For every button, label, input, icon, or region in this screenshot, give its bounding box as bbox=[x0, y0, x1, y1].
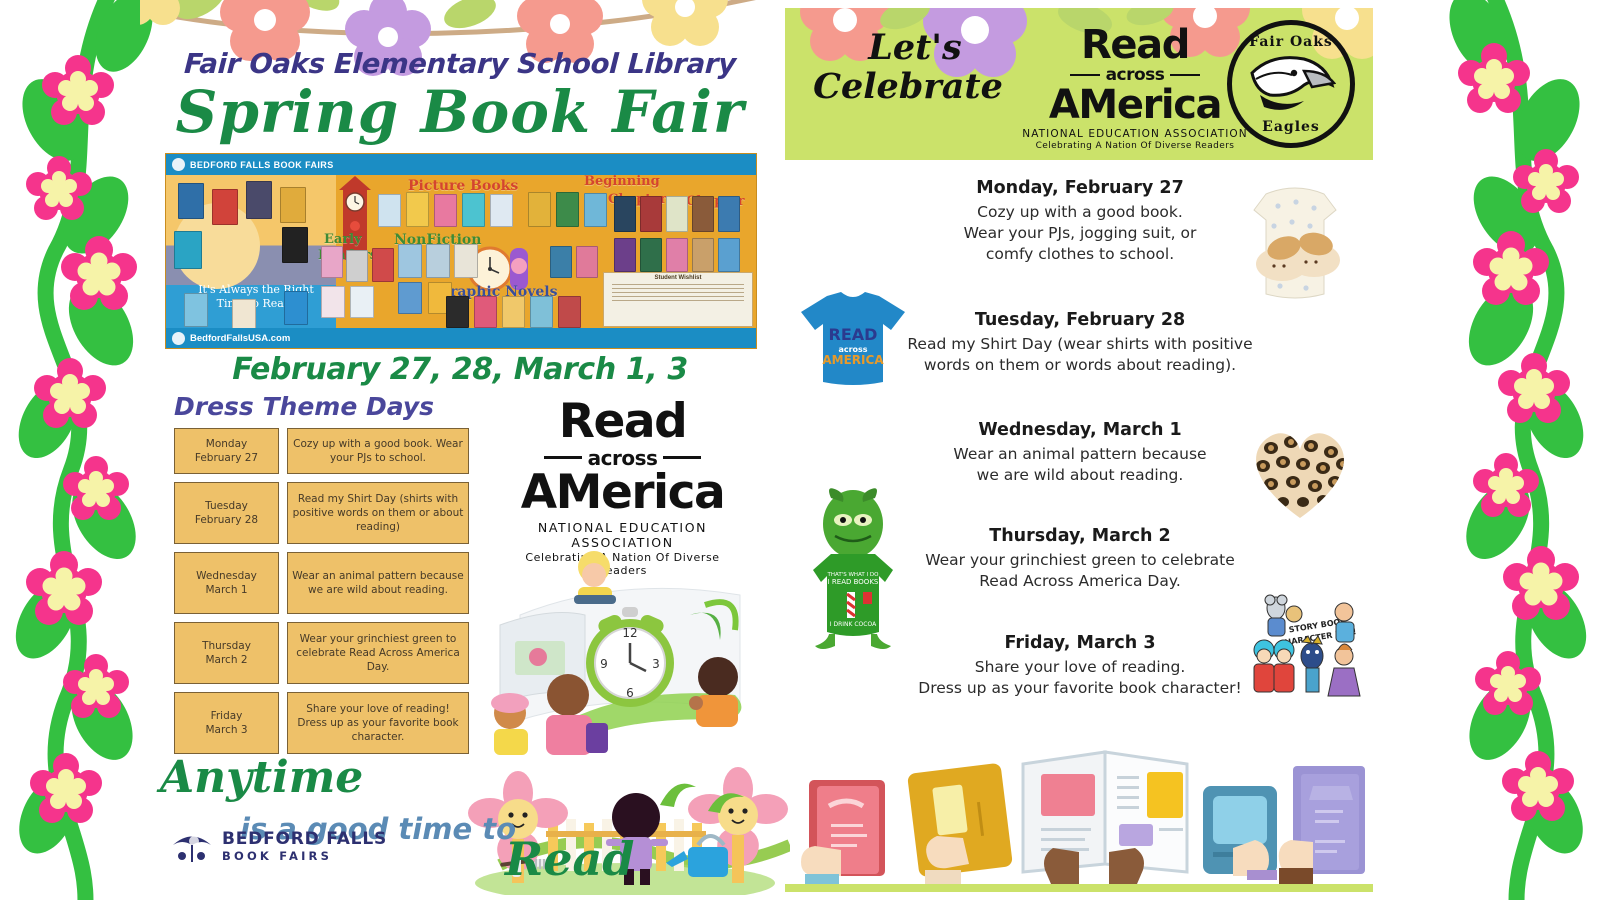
svg-text:I DRINK COCOA: I DRINK COCOA bbox=[830, 621, 877, 628]
book-cover bbox=[174, 231, 202, 269]
theme-desc-cell: Read my Shirt Day (shirts with positive … bbox=[287, 482, 469, 544]
banner-bottom-bar: BedfordFallsUSA.com bbox=[166, 328, 756, 348]
book-cover bbox=[406, 192, 429, 227]
day-description: Share your love of reading. Dress up as … bbox=[860, 657, 1300, 699]
blue-book-hand bbox=[1203, 786, 1277, 880]
book-cover bbox=[614, 238, 636, 272]
dress-theme-heading: Dress Theme Days bbox=[174, 392, 434, 421]
page-title: Fair Oaks Elementary School Library bbox=[149, 48, 771, 80]
wishlist-title: Student Wishlist bbox=[604, 275, 752, 281]
child-reading-top bbox=[574, 551, 616, 604]
svg-text:12: 12 bbox=[622, 626, 637, 640]
theme-desc-cell: Cozy up with a good book. Wear your PJs … bbox=[287, 428, 469, 474]
website-icon bbox=[172, 332, 185, 345]
storybook-character-day-image: STORY BOOK CHARACTER DAY! bbox=[1240, 586, 1365, 701]
book-cover bbox=[282, 227, 308, 263]
svg-text:AMERICA: AMERICA bbox=[822, 353, 884, 367]
wishlist-line bbox=[612, 296, 744, 297]
category-early: Early bbox=[324, 232, 362, 247]
book-cover bbox=[530, 296, 553, 328]
category-beginning: Beginning bbox=[584, 174, 660, 189]
book-cover bbox=[434, 194, 457, 227]
table-row: MondayFebruary 27 Cozy up with a good bo… bbox=[174, 428, 469, 474]
wizard-character bbox=[1328, 644, 1360, 696]
book-cover bbox=[718, 196, 740, 232]
celebrate-header-banner: Let's Celebrate Read across AMerica NATI… bbox=[785, 8, 1373, 160]
day-description: Wear an animal pattern because we are wi… bbox=[860, 444, 1300, 486]
lets-word: Let's bbox=[815, 30, 1015, 65]
book-cover bbox=[474, 296, 497, 328]
theme-day-cell: FridayMarch 3 bbox=[174, 692, 279, 754]
day-title: Thursday, March 2 bbox=[860, 526, 1300, 546]
boy-character bbox=[1335, 603, 1354, 642]
right-flyer-panel: Let's Celebrate Read across AMerica NATI… bbox=[785, 8, 1375, 892]
banner-website-label: BedfordFallsUSA.com bbox=[190, 333, 290, 344]
rule-left bbox=[544, 456, 582, 459]
seal-bottom-label: Eagles bbox=[1232, 119, 1350, 135]
day-title: Tuesday, February 28 bbox=[860, 310, 1300, 330]
day-description: Wear your grinchiest green to celebrate … bbox=[860, 550, 1300, 592]
book-cover bbox=[280, 187, 306, 223]
day-description: Read my Shirt Day (wear shirts with posi… bbox=[860, 334, 1300, 376]
student-wishlist-box: Student Wishlist bbox=[603, 272, 753, 327]
book-cover bbox=[558, 296, 581, 328]
wishlist-line bbox=[612, 292, 744, 293]
book-cover bbox=[378, 194, 401, 227]
footer-brand-line-2: BOOK FAIRS bbox=[222, 849, 387, 863]
header-read-across-america-logo: Read across AMerica NATIONAL EDUCATION A… bbox=[1020, 26, 1250, 151]
umbrella-icon bbox=[170, 828, 214, 864]
book-cover bbox=[246, 181, 272, 219]
event-dates: February 27, 28, March 1, 3 bbox=[150, 352, 770, 387]
footer-green-bar bbox=[785, 884, 1373, 892]
book-cover bbox=[372, 248, 394, 282]
day-block-friday: Friday, March 3 Share your love of readi… bbox=[860, 633, 1300, 699]
book-cover bbox=[398, 282, 422, 314]
table-row: ThursdayMarch 2 Wear your grinchiest gre… bbox=[174, 622, 469, 684]
book-cover bbox=[446, 296, 469, 328]
rule-left bbox=[1070, 74, 1100, 76]
book-cover bbox=[502, 296, 525, 328]
celebrate-word: Celebrate bbox=[801, 69, 1015, 104]
purple-book-hand bbox=[1279, 766, 1365, 884]
book-cover bbox=[454, 244, 478, 278]
book-cover bbox=[321, 246, 343, 278]
day-block-thursday: Thursday, March 2 Wear your grinchiest g… bbox=[860, 526, 1300, 592]
yellow-book-hand bbox=[907, 763, 1013, 884]
book-cover bbox=[350, 286, 374, 318]
banner-brand-label: BEDFORD FALLS BOOK FAIRS bbox=[190, 160, 334, 170]
eagle-head-icon bbox=[1246, 51, 1336, 117]
flower-vine-right-decoration bbox=[1426, 0, 1600, 900]
wishlist-line bbox=[612, 288, 744, 289]
svg-text:READ: READ bbox=[829, 325, 878, 344]
table-row: TuesdayFebruary 28 Read my Shirt Day (sh… bbox=[174, 482, 469, 544]
svg-text:9: 9 bbox=[600, 657, 608, 671]
theme-desc-cell: Wear your grinchiest green to celebrate … bbox=[287, 622, 469, 684]
svg-text:3: 3 bbox=[652, 657, 660, 671]
theme-desc-cell: Share your love of reading! Dress up as … bbox=[287, 692, 469, 754]
book-cover bbox=[490, 194, 513, 227]
book-cover bbox=[212, 189, 238, 225]
thing-one-two bbox=[1254, 640, 1294, 692]
left-flyer-panel: Fair Oaks Elementary School Library Spri… bbox=[150, 0, 770, 900]
banner-top-bar: BEDFORD FALLS BOOK FAIRS bbox=[166, 154, 756, 175]
book-cover bbox=[232, 299, 256, 331]
rule-right bbox=[663, 456, 701, 459]
bedford-falls-footer-logo: BEDFORD FALLS BOOK FAIRS bbox=[170, 828, 387, 864]
book-cover bbox=[666, 238, 688, 272]
blue-tshirt-image: READ across AMERICA bbox=[793, 288, 913, 388]
day-title: Monday, February 27 bbox=[860, 178, 1300, 198]
book-cover bbox=[528, 192, 551, 227]
closing-line-1: Anytime bbox=[160, 752, 363, 803]
theme-day-cell: TuesdayFebruary 28 bbox=[174, 482, 279, 544]
book-cover bbox=[178, 183, 204, 219]
raa-read-word: Read bbox=[1020, 26, 1250, 64]
day-block-wednesday: Wednesday, March 1 Wear an animal patter… bbox=[860, 420, 1300, 486]
svg-text:I READ BOOKS: I READ BOOKS bbox=[828, 578, 879, 586]
dress-theme-table: MondayFebruary 27 Cozy up with a good bo… bbox=[174, 428, 469, 762]
svg-text:6: 6 bbox=[626, 686, 634, 700]
theme-day-cell: WednesdayMarch 1 bbox=[174, 552, 279, 614]
book-cover bbox=[398, 244, 422, 278]
book-cover bbox=[584, 193, 607, 227]
day-title: Wednesday, March 1 bbox=[860, 420, 1300, 440]
bedford-falls-logo-icon bbox=[172, 158, 185, 171]
book-cover bbox=[666, 196, 688, 232]
book-cover bbox=[284, 291, 308, 325]
flyer-page: Fair Oaks Elementary School Library Spri… bbox=[0, 0, 1600, 900]
book-cover bbox=[184, 293, 208, 327]
book-cover bbox=[550, 246, 572, 278]
book-cover bbox=[462, 193, 485, 227]
rule-right bbox=[1170, 74, 1200, 76]
book-cover bbox=[576, 246, 598, 278]
book-cover bbox=[692, 238, 714, 272]
raa-read-word: Read bbox=[505, 400, 740, 445]
day-title: Friday, March 3 bbox=[860, 633, 1300, 653]
book-cover bbox=[321, 286, 345, 318]
closing-line-3: Read bbox=[505, 832, 634, 886]
seal-top-label: Fair Oaks bbox=[1232, 34, 1350, 50]
cat-character bbox=[1301, 636, 1323, 692]
table-row: FridayMarch 3 Share your love of reading… bbox=[174, 692, 469, 754]
book-cover bbox=[640, 196, 662, 232]
table-row: WednesdayMarch 1 Wear an animal pattern … bbox=[174, 552, 469, 614]
book-fair-banner-image: BEDFORD FALLS BOOK FAIRS It's Always the… bbox=[165, 153, 757, 349]
lets-celebrate-script: Let's Celebrate bbox=[815, 30, 1015, 104]
banner-beach-scene: It's Always the Right Time to Read! bbox=[166, 175, 336, 328]
book-cover bbox=[556, 192, 579, 227]
wishlist-line bbox=[612, 300, 744, 301]
footer-logo-text: BEDFORD FALLS BOOK FAIRS bbox=[222, 829, 387, 863]
fair-oaks-eagles-seal: Fair Oaks Eagles bbox=[1227, 20, 1355, 148]
book-cover bbox=[718, 238, 740, 272]
theme-day-cell: ThursdayMarch 2 bbox=[174, 622, 279, 684]
book-cover bbox=[426, 244, 450, 278]
grinch-image: THAT'S WHAT I DO I READ BOOKS I DRINK CO… bbox=[801, 484, 906, 654]
book-cover bbox=[346, 250, 368, 282]
raa-nea-label: NATIONAL EDUCATION ASSOCIATION bbox=[1020, 128, 1250, 140]
event-title: Spring Book Fair bbox=[150, 78, 770, 146]
theme-day-cell: MondayFebruary 27 bbox=[174, 428, 279, 474]
footer-brand-line-1: BEDFORD FALLS bbox=[222, 829, 387, 849]
leopard-heart-image bbox=[1245, 420, 1355, 525]
hands-holding-books-illustration bbox=[785, 724, 1373, 884]
red-book-hand bbox=[801, 780, 885, 884]
day-description: Cozy up with a good book. Wear your PJs,… bbox=[860, 202, 1300, 265]
day-block-tuesday: Tuesday, February 28 Read my Shirt Day (… bbox=[860, 310, 1300, 376]
book-cover bbox=[692, 196, 714, 232]
raa-tagline: Celebrating A Nation Of Diverse Readers bbox=[1020, 141, 1250, 151]
book-cover bbox=[640, 238, 662, 272]
raa-america-word: AMerica bbox=[505, 471, 740, 516]
wishlist-line bbox=[612, 284, 744, 285]
pajamas-slippers-image bbox=[1240, 176, 1350, 306]
open-book-hands bbox=[1023, 752, 1187, 884]
day-block-monday: Monday, February 27 Cozy up with a good … bbox=[860, 178, 1300, 265]
theme-desc-cell: Wear an animal pattern because we are wi… bbox=[287, 552, 469, 614]
raa-america-word: AMerica bbox=[1020, 86, 1250, 124]
book-cover bbox=[614, 196, 636, 232]
